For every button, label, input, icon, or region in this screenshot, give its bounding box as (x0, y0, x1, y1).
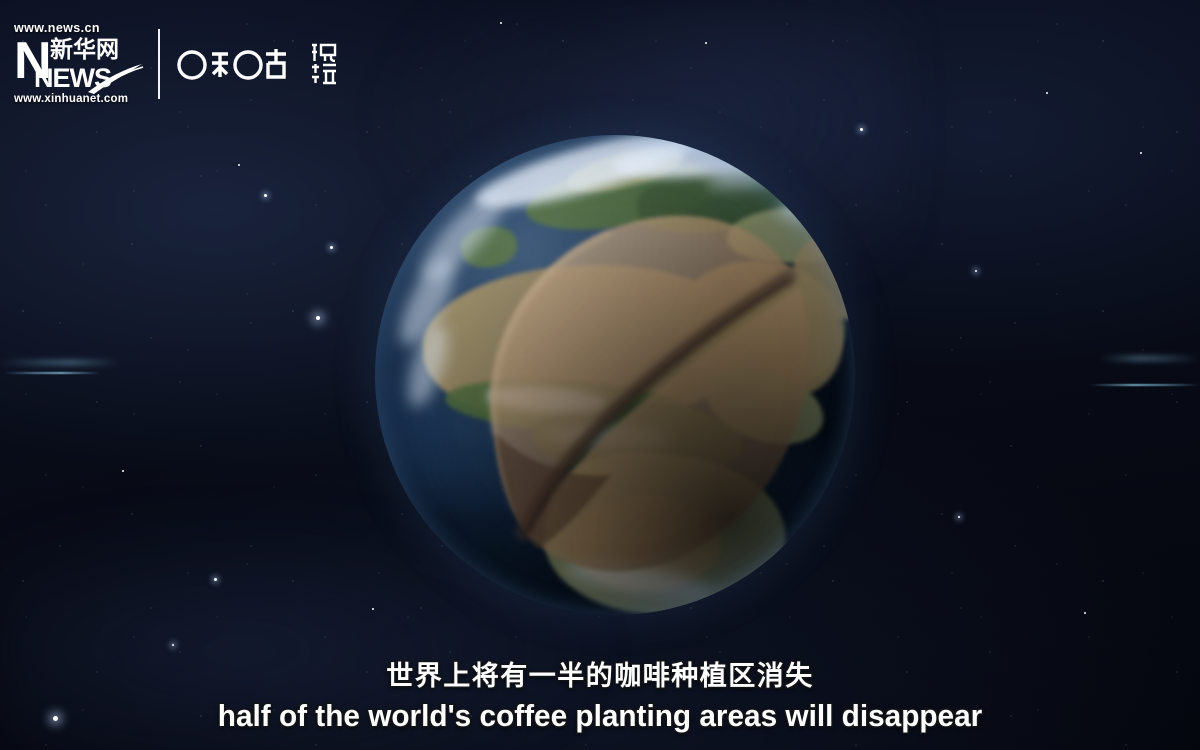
light-streak-left-thin (4, 372, 100, 374)
star (958, 516, 960, 518)
globe-surface (375, 135, 855, 615)
migu-suffix-icon (309, 41, 339, 87)
star (860, 128, 863, 131)
star (238, 164, 240, 166)
star (172, 644, 174, 646)
light-streak-right (1100, 356, 1200, 361)
broadcaster-logo-bar: www.news.cn N 新华网 NEWS www.xinhuanet.com (14, 22, 339, 105)
xinhua-wordmark-block: N 新华网 NEWS (14, 37, 140, 93)
star (705, 42, 707, 44)
subtitle-english: half of the world's coffee planting area… (24, 696, 1176, 736)
star (1046, 92, 1048, 94)
video-frame: www.news.cn N 新华网 NEWS www.xinhuanet.com (0, 0, 1200, 750)
earth-globe (375, 135, 855, 615)
subtitle-block: 世界上将有一半的咖啡种植区消失 half of the world's coff… (0, 660, 1200, 736)
star (372, 608, 374, 610)
star (264, 194, 267, 197)
star (500, 22, 502, 24)
light-streak-left (0, 360, 120, 365)
light-streak-right-thin (1090, 384, 1200, 386)
star (975, 270, 977, 272)
globe-sphere (375, 135, 855, 615)
star (1140, 152, 1142, 154)
logo-divider (158, 29, 160, 99)
migu-video-logo[interactable] (176, 41, 339, 87)
xinhua-chinese-name: 新华网 (50, 39, 119, 62)
star (214, 578, 217, 581)
migu-glyphs-icon (176, 41, 304, 87)
star (316, 316, 320, 320)
subtitle-chinese: 世界上将有一半的咖啡种植区消失 (0, 660, 1200, 694)
star (330, 246, 333, 249)
xinhua-news-logo[interactable]: www.news.cn N 新华网 NEWS www.xinhuanet.com (14, 22, 140, 105)
xinhua-url-bottom: www.xinhuanet.com (14, 94, 140, 106)
star (122, 470, 124, 472)
swoosh-icon (86, 61, 144, 95)
star (1084, 612, 1086, 614)
